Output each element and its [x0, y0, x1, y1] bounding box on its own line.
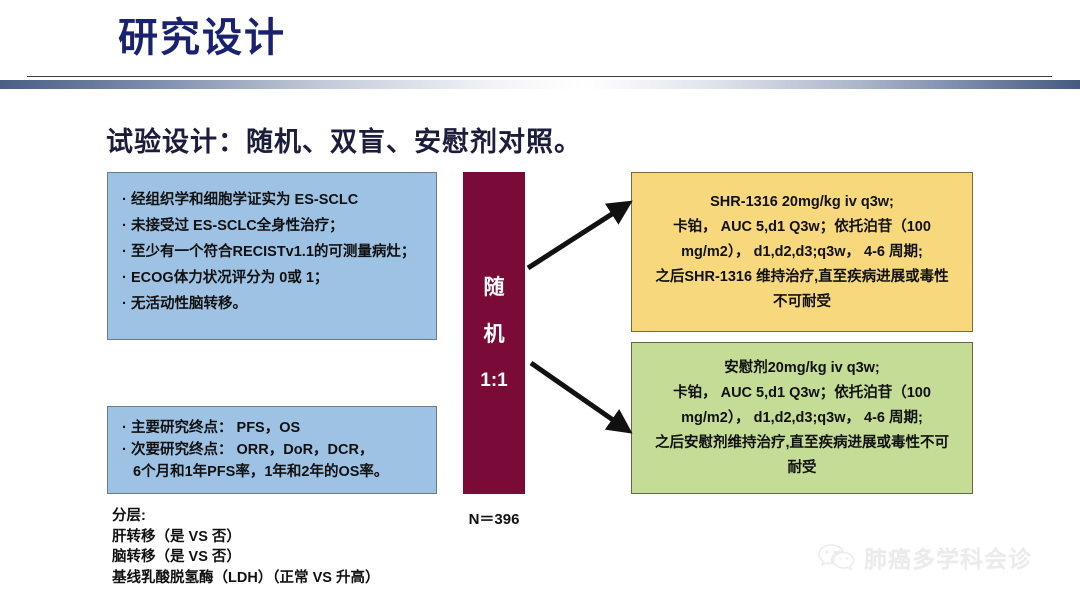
bullet-icon: · — [122, 213, 131, 239]
criteria-item-text: 无活动性脑转移。 — [131, 296, 247, 312]
criteria-item-text: 经组织学和细胞学证实为 ES-SCLC — [131, 192, 358, 208]
treatment-arm-line: mg/m2）， d1,d2,d3;q3w， 4-6 周期; — [644, 240, 960, 265]
primary-endpoint-row: ·主要研究终点： PFS，OS — [122, 417, 428, 439]
stratification-block: 分层: 肝转移（是 VS 否） 脑转移（是 VS 否） 基线乳酸脱氢酶（LDH）… — [112, 506, 379, 588]
bullet-icon: · — [122, 417, 131, 439]
secondary-endpoint-row-cont: 6个月和1年PFS率，1年和2年的OS率。 — [122, 461, 428, 483]
arrow-to-treatment-arm — [528, 205, 626, 268]
control-arm-line: 耐受 — [644, 456, 960, 481]
stratification-item: 脑转移（是 VS 否） — [112, 547, 379, 568]
criteria-item: ·经组织学和细胞学证实为 ES-SCLC — [122, 187, 426, 213]
randomization-ratio: 1:1 — [480, 371, 507, 390]
stratification-item: 基线乳酸脱氢酶（LDH）（正常 VS 升高） — [112, 568, 379, 589]
treatment-arm-line: SHR-1316 20mg/kg iv q3w; — [644, 190, 960, 215]
slide-subtitle: 试验设计：随机、双盲、安慰剂对照。 — [106, 120, 582, 159]
stratification-label: 分层: — [112, 506, 379, 527]
slide-canvas: 研究设计 试验设计：随机、双盲、安慰剂对照。 ·经组织学和细胞学证实为 ES-S… — [0, 0, 1080, 608]
study-endpoints-box: ·主要研究终点： PFS，OS ·次要研究终点： ORR，DoR，DCR， 6个… — [107, 406, 437, 494]
randomization-column: 随 机 1:1 — [463, 172, 525, 494]
randomization-char-1: 随 — [484, 277, 505, 298]
control-arm-line: 卡铂， AUC 5,d1 Q3w；依托泊苷（100 — [644, 381, 960, 406]
arrow-to-control-arm — [531, 363, 626, 429]
wechat-icon — [818, 542, 856, 572]
header-divider-line — [27, 76, 1052, 77]
criteria-item-text: 未接受过 ES-SCLC全身性治疗； — [131, 218, 344, 234]
inclusion-criteria-box: ·经组织学和细胞学证实为 ES-SCLC ·未接受过 ES-SCLC全身性治疗；… — [107, 172, 437, 340]
secondary-endpoint-text: 次要研究终点： ORR，DoR，DCR， — [131, 442, 373, 458]
randomization-char-2: 机 — [484, 324, 505, 345]
primary-endpoint-text: 主要研究终点： PFS，OS — [131, 420, 300, 436]
criteria-item: ·未接受过 ES-SCLC全身性治疗； — [122, 213, 426, 239]
treatment-arm-line: 卡铂， AUC 5,d1 Q3w；依托泊苷（100 — [644, 215, 960, 240]
bullet-icon: · — [122, 265, 131, 291]
control-arm-box: 安慰剂20mg/kg iv q3w; 卡铂， AUC 5,d1 Q3w；依托泊苷… — [631, 342, 973, 494]
treatment-arm-box: SHR-1316 20mg/kg iv q3w; 卡铂， AUC 5,d1 Q3… — [631, 172, 973, 332]
secondary-endpoint-row: ·次要研究终点： ORR，DoR，DCR， — [122, 439, 428, 461]
control-arm-line: 安慰剂20mg/kg iv q3w; — [644, 356, 960, 381]
criteria-item: ·ECOG体力状况评分为 0或 1； — [122, 265, 426, 291]
watermark: 肺癌多学科会诊 — [818, 540, 1032, 574]
page-title: 研究设计 — [118, 16, 286, 60]
header-gradient-bar — [0, 80, 1080, 89]
bullet-icon: · — [122, 439, 131, 461]
control-arm-line: mg/m2）， d1,d2,d3;q3w， 4-6 周期; — [644, 406, 960, 431]
stratification-item: 肝转移（是 VS 否） — [112, 527, 379, 548]
treatment-arm-line: 不可耐受 — [644, 290, 960, 315]
bullet-icon: · — [122, 291, 131, 317]
control-arm-line: 之后安慰剂维持治疗,直至疾病进展或毒性不可 — [644, 431, 960, 456]
treatment-arm-line: 之后SHR-1316 维持治疗,直至疾病进展或毒性 — [644, 265, 960, 290]
criteria-item: ·至少有一个符合RECISTv1.1的可测量病灶； — [122, 239, 426, 265]
criteria-item: ·无活动性脑转移。 — [122, 291, 426, 317]
criteria-item-text: ECOG体力状况评分为 0或 1； — [131, 270, 328, 286]
bullet-icon: · — [122, 187, 131, 213]
sample-size-label: N＝396 — [463, 508, 525, 529]
bullet-icon: · — [122, 239, 131, 265]
criteria-item-text: 至少有一个符合RECISTv1.1的可测量病灶； — [131, 244, 415, 260]
watermark-text: 肺癌多学科会诊 — [864, 540, 1032, 574]
